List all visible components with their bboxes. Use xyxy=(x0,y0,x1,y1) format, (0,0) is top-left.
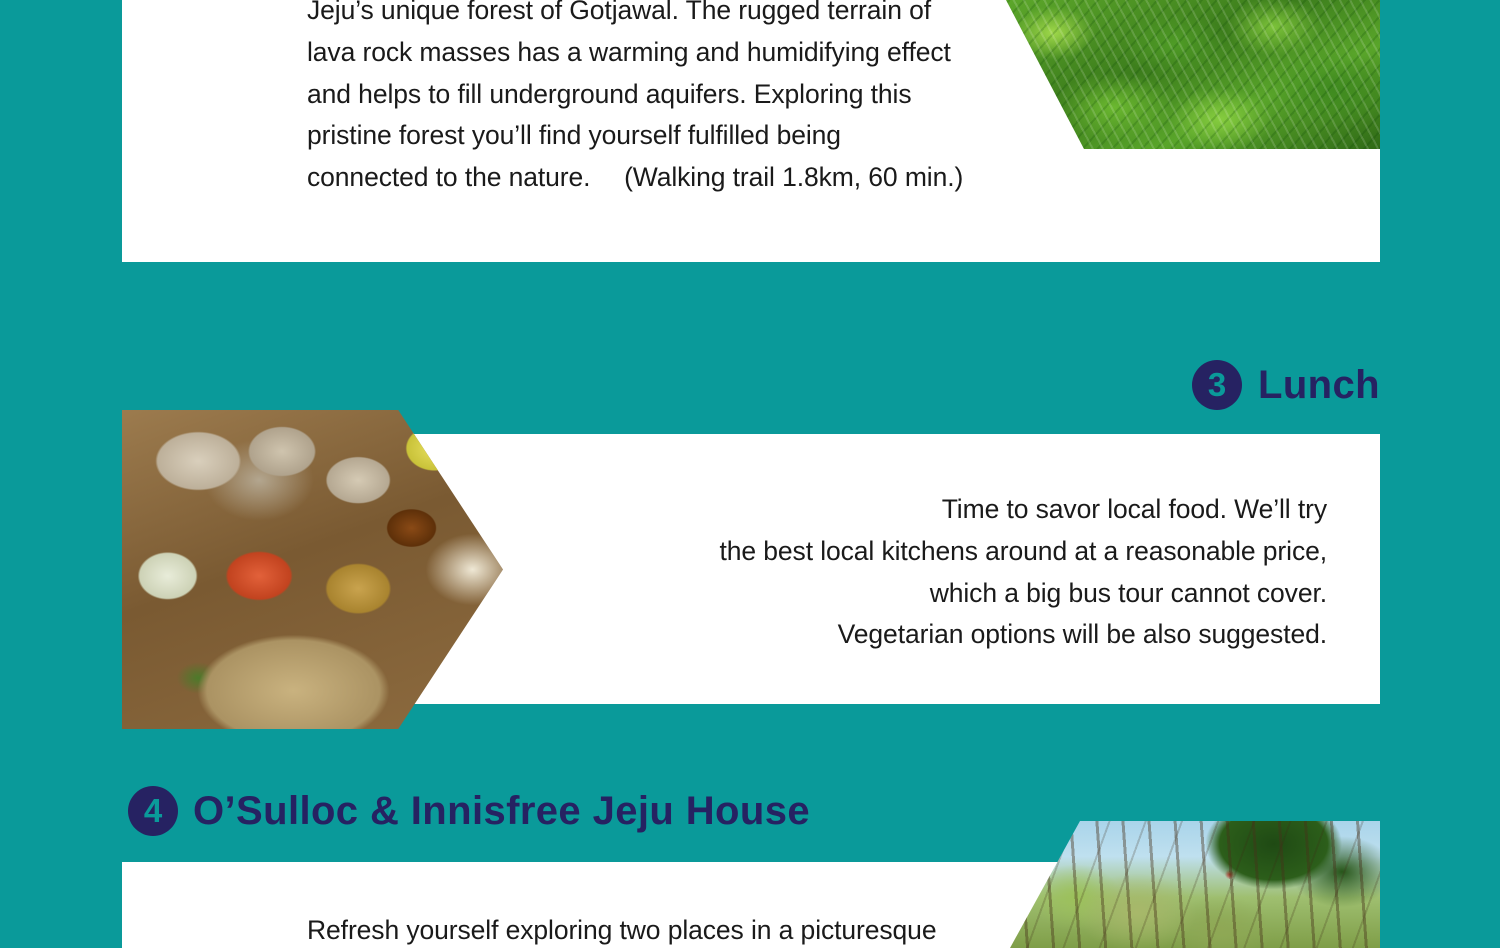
osulloc-body-text: Refresh yourself exploring two places in… xyxy=(307,910,1107,948)
infographic-page: Jeju’s unique forest of Gotjawal. The ru… xyxy=(0,0,1500,948)
forest-body-text: Jeju’s unique forest of Gotjawal. The ru… xyxy=(307,0,1097,199)
section-header-lunch: 3 Lunch xyxy=(1192,360,1380,410)
section-header-osulloc: 4 O’Sulloc & Innisfree Jeju House xyxy=(128,786,810,836)
lunch-body-line: which a big bus tour cannot cover. xyxy=(477,573,1327,615)
forest-body-line: connected to the nature. (Walking trail … xyxy=(307,157,1097,199)
lunch-body-line: Vegetarian options will be also suggeste… xyxy=(477,614,1327,656)
lunch-body-line: Time to savor local food. We’ll try xyxy=(477,489,1327,531)
section-number-badge-3: 3 xyxy=(1192,360,1242,410)
osulloc-body-line: Refresh yourself exploring two places in… xyxy=(307,910,1107,948)
section-title-osulloc: O’Sulloc & Innisfree Jeju House xyxy=(193,791,810,831)
osulloc-photo xyxy=(1000,821,1380,948)
forest-body-line: Jeju’s unique forest of Gotjawal. The ru… xyxy=(307,0,1097,32)
osulloc-photo-image xyxy=(1000,821,1380,948)
lunch-body-text: Time to savor local food. We’ll try the … xyxy=(477,489,1327,656)
section-title-lunch: Lunch xyxy=(1258,365,1380,405)
forest-body-line: and helps to fill underground aquifers. … xyxy=(307,74,1097,116)
forest-body-line: lava rock masses has a warming and humid… xyxy=(307,32,1097,74)
forest-body-line: pristine forest you’ll find yourself ful… xyxy=(307,115,1097,157)
lunch-body-line: the best local kitchens around at a reas… xyxy=(477,531,1327,573)
section-number-badge-4: 4 xyxy=(128,786,178,836)
